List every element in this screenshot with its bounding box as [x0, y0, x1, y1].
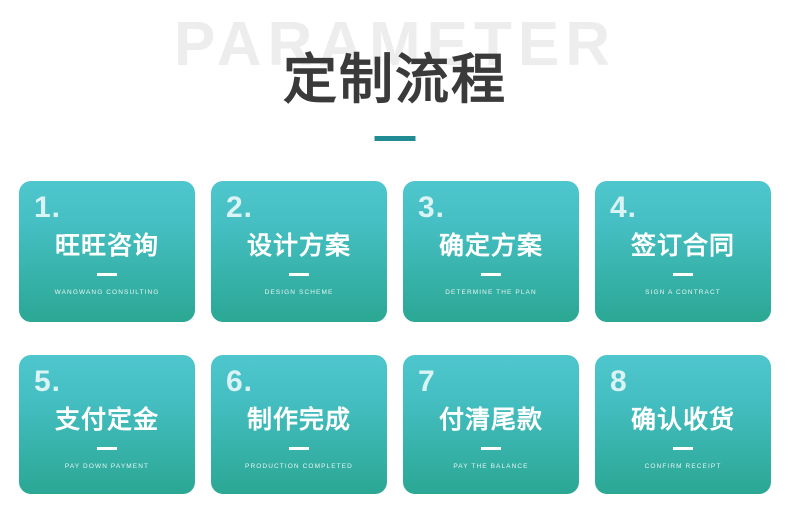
step-title: 旺旺咨询	[19, 233, 195, 261]
process-step-card-7[interactable]: 7 付清尾款 PAY THE BALANCE	[403, 355, 579, 494]
page-header: PARAMETER 定制流程	[0, 0, 790, 160]
step-body: 制作完成 PRODUCTION COMPLETED	[211, 407, 387, 470]
step-dash-divider	[481, 273, 501, 276]
process-step-card-4[interactable]: 4. 签订合同 SIGN A CONTRACT	[595, 181, 771, 322]
step-dash-divider	[289, 273, 309, 276]
step-body: 签订合同 SIGN A CONTRACT	[595, 233, 771, 296]
page-title: 定制流程	[0, 52, 790, 109]
step-dash-divider	[97, 447, 117, 450]
process-step-card-3[interactable]: 3. 确定方案 DETERMINE THE PLAN	[403, 181, 579, 322]
step-dash-divider	[97, 273, 117, 276]
step-body: 设计方案 DESIGN SCHEME	[211, 233, 387, 296]
step-caption: CONFIRM RECEIPT	[595, 463, 771, 470]
step-dash-divider	[289, 447, 309, 450]
process-step-card-1[interactable]: 1. 旺旺咨询 WANGWANG CONSULTING	[19, 181, 195, 322]
step-title: 签订合同	[595, 233, 771, 261]
step-dash-divider	[481, 447, 501, 450]
step-number: 1.	[34, 193, 61, 223]
step-dash-divider	[673, 273, 693, 276]
step-caption: WANGWANG CONSULTING	[19, 289, 195, 296]
step-title: 确定方案	[403, 233, 579, 261]
step-body: 付清尾款 PAY THE BALANCE	[403, 407, 579, 470]
step-caption: PAY DOWN PAYMENT	[19, 463, 195, 470]
step-body: 确定方案 DETERMINE THE PLAN	[403, 233, 579, 296]
step-number: 5.	[34, 367, 61, 397]
step-caption: PRODUCTION COMPLETED	[211, 463, 387, 470]
step-title: 付清尾款	[403, 407, 579, 435]
step-number: 2.	[226, 193, 253, 223]
process-step-card-2[interactable]: 2. 设计方案 DESIGN SCHEME	[211, 181, 387, 322]
step-number: 7	[418, 367, 436, 397]
step-number: 3.	[418, 193, 445, 223]
step-caption: SIGN A CONTRACT	[595, 289, 771, 296]
step-caption: DETERMINE THE PLAN	[403, 289, 579, 296]
process-step-card-5[interactable]: 5. 支付定金 PAY DOWN PAYMENT	[19, 355, 195, 494]
step-title: 支付定金	[19, 407, 195, 435]
step-title: 制作完成	[211, 407, 387, 435]
process-steps-grid: 1. 旺旺咨询 WANGWANG CONSULTING 2. 设计方案 DESI…	[19, 181, 771, 494]
step-caption: DESIGN SCHEME	[211, 289, 387, 296]
step-body: 支付定金 PAY DOWN PAYMENT	[19, 407, 195, 470]
step-dash-divider	[673, 447, 693, 450]
title-underline-divider	[375, 136, 416, 141]
step-number: 8	[610, 367, 628, 397]
step-title: 确认收货	[595, 407, 771, 435]
step-body: 确认收货 CONFIRM RECEIPT	[595, 407, 771, 470]
step-body: 旺旺咨询 WANGWANG CONSULTING	[19, 233, 195, 296]
process-step-card-6[interactable]: 6. 制作完成 PRODUCTION COMPLETED	[211, 355, 387, 494]
step-number: 4.	[610, 193, 637, 223]
process-step-card-8[interactable]: 8 确认收货 CONFIRM RECEIPT	[595, 355, 771, 494]
step-caption: PAY THE BALANCE	[403, 463, 579, 470]
step-title: 设计方案	[211, 233, 387, 261]
step-number: 6.	[226, 367, 253, 397]
